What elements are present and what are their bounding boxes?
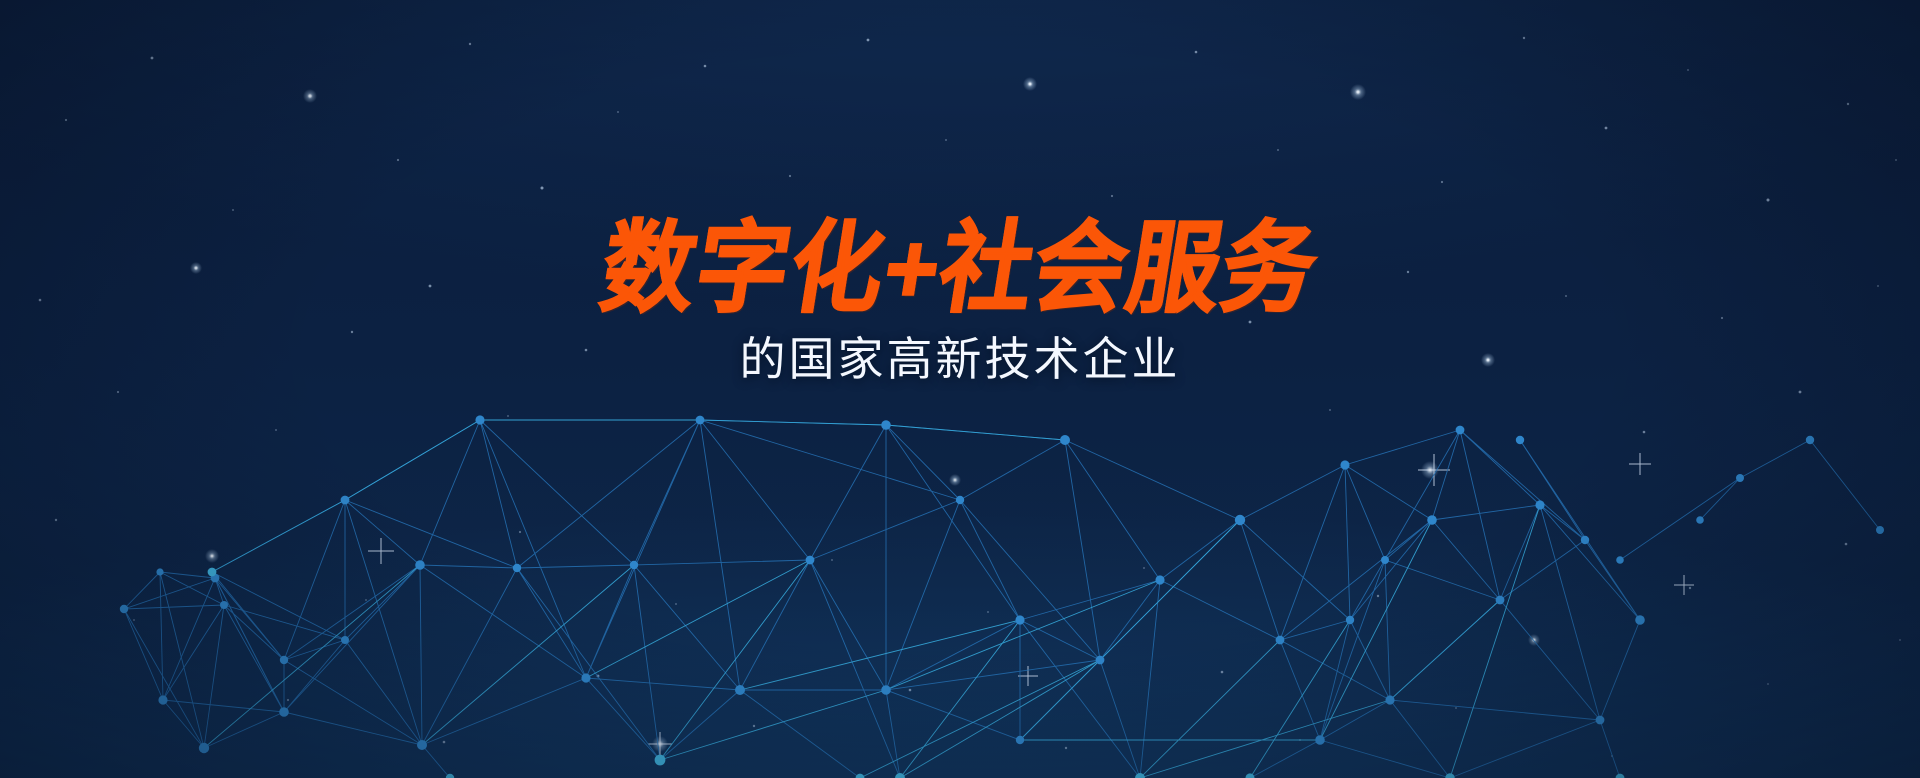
page-subtitle: 的国家高新技术企业: [0, 332, 1920, 387]
hero-banner: 数字化+社会服务 的国家高新技术企业: [0, 0, 1920, 778]
page-title: 数字化+社会服务: [595, 218, 1325, 321]
hero-copy: 数字化+社会服务 的国家高新技术企业: [0, 222, 1920, 387]
network-mesh-graphic: [0, 0, 1920, 778]
